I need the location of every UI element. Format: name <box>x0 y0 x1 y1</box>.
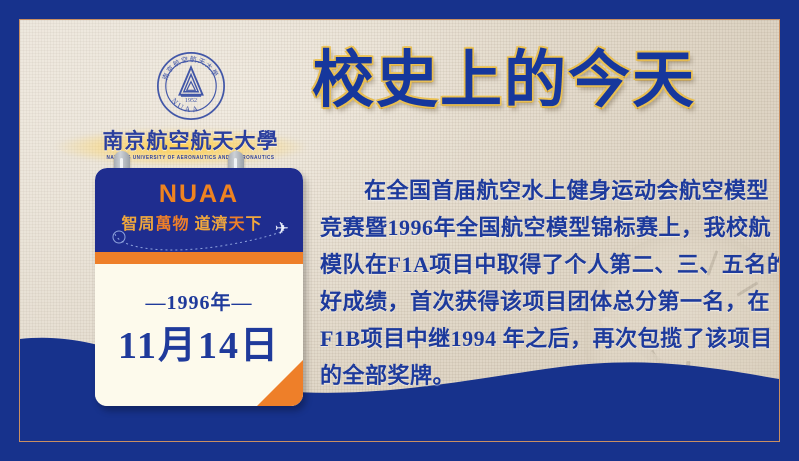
calendar-card-body: —1996年— 11月14日 <box>95 264 303 406</box>
university-name-en: NANJING UNIVERSITY OF AERONAUTICS AND AS… <box>78 154 303 160</box>
calendar-brand-label: NUAA <box>95 180 303 209</box>
paper-panel: 1952 南京航空航天大學 NUAA 南京航空航天大學 NANJING UNIV… <box>20 20 779 441</box>
calendar-orange-divider <box>95 252 303 264</box>
calendar-card[interactable]: NUAA 智周萬物 道濟天下 ✈ —1996年— 11月14日 <box>95 168 303 406</box>
svg-text:1952: 1952 <box>184 98 196 104</box>
page-title: 校史上的今天 <box>312 50 696 112</box>
calendar-card-header: NUAA 智周萬物 道濟天下 ✈ <box>95 168 303 252</box>
poster-root: 1952 南京航空航天大學 NUAA 南京航空航天大學 NANJING UNIV… <box>0 0 799 461</box>
calendar-year-label: —1996年— <box>95 286 303 315</box>
flight-trail-decoration <box>111 228 286 252</box>
university-name-cn: 南京航空航天大學 <box>78 130 303 152</box>
nuaa-seal-icon: 1952 南京航空航天大學 NUAA <box>155 50 227 122</box>
calendar-corner-fold <box>257 360 303 406</box>
airplane-icon: ✈ <box>275 220 289 237</box>
article-body: 在全国首届航空水上健身运动会航空模型竞赛暨1996年全国航空模型锦标赛上，我校航… <box>320 172 779 394</box>
university-logo-block: 1952 南京航空航天大學 NUAA 南京航空航天大學 NANJING UNIV… <box>78 50 303 159</box>
